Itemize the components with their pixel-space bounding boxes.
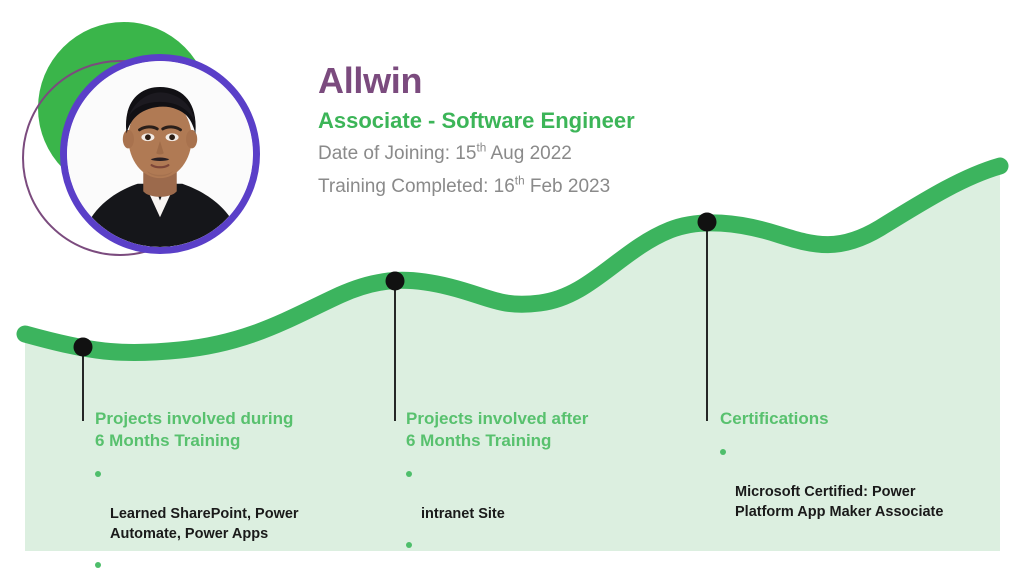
date-of-joining-label: Date of Joining: 15 — [318, 143, 476, 164]
date-of-joining-ordinal: th — [476, 142, 486, 155]
section-heading: Projects involved after 6 Months Trainin… — [406, 408, 676, 452]
bullet-list: Learned SharePoint, Power Automate, Powe… — [95, 464, 365, 578]
timeline-marker-dot-1[interactable] — [74, 338, 93, 357]
date-of-joining-rest: Aug 2022 — [486, 143, 572, 164]
list-item: Microsoft Certified: Power Platform App … — [720, 442, 1000, 522]
training-completed-label: Training Completed: 16 — [318, 176, 515, 197]
list-item-label: intranet Site — [421, 506, 505, 522]
avatar — [18, 22, 288, 267]
bullet-dot-icon — [720, 449, 726, 455]
section-heading: Certifications — [720, 408, 1000, 430]
section-heading: Projects involved during 6 Months Traini… — [95, 408, 365, 452]
list-item: intranet Site — [406, 464, 676, 524]
list-item: Learned SharePoint, Power Automate, Powe… — [95, 464, 365, 544]
list-item: Learned WordPress and Frontend — [95, 555, 365, 578]
timeline-marker-dot-3[interactable] — [698, 213, 717, 232]
training-completed: Training Completed: 16th Feb 2023 — [318, 174, 878, 201]
date-of-joining: Date of Joining: 15th Aug 2022 — [318, 141, 878, 168]
bullet-dot-icon — [95, 562, 101, 568]
bullet-dot-icon — [406, 471, 412, 477]
page-title: Allwin — [318, 62, 878, 101]
list-item-label: Learned SharePoint, Power Automate, Powe… — [110, 506, 299, 542]
timeline-section-certifications: Certifications Microsoft Certified: Powe… — [720, 408, 1000, 533]
list-item: Ignitho Website Rewamp — [406, 535, 676, 578]
training-completed-rest: Feb 2023 — [525, 176, 611, 197]
bullet-dot-icon — [95, 471, 101, 477]
bullet-list: intranet Site Ignitho Website Rewamp Piq… — [406, 464, 676, 578]
training-completed-ordinal: th — [515, 175, 525, 188]
list-item-label: Microsoft Certified: Power Platform App … — [735, 484, 943, 520]
bullet-dot-icon — [406, 542, 412, 548]
infographic-canvas: Allwin Associate - Software Engineer Dat… — [0, 0, 1024, 578]
avatar-ring — [60, 54, 260, 254]
profile-photo — [67, 61, 253, 247]
timeline-section-projects-during-training: Projects involved during 6 Months Traini… — [95, 408, 365, 578]
profile-header: Allwin Associate - Software Engineer Dat… — [318, 62, 878, 201]
timeline-section-projects-after-training: Projects involved after 6 Months Trainin… — [406, 408, 676, 578]
timeline-marker-dot-2[interactable] — [386, 272, 405, 291]
profile-role: Associate - Software Engineer — [318, 107, 878, 136]
bullet-list: Microsoft Certified: Power Platform App … — [720, 442, 1000, 522]
